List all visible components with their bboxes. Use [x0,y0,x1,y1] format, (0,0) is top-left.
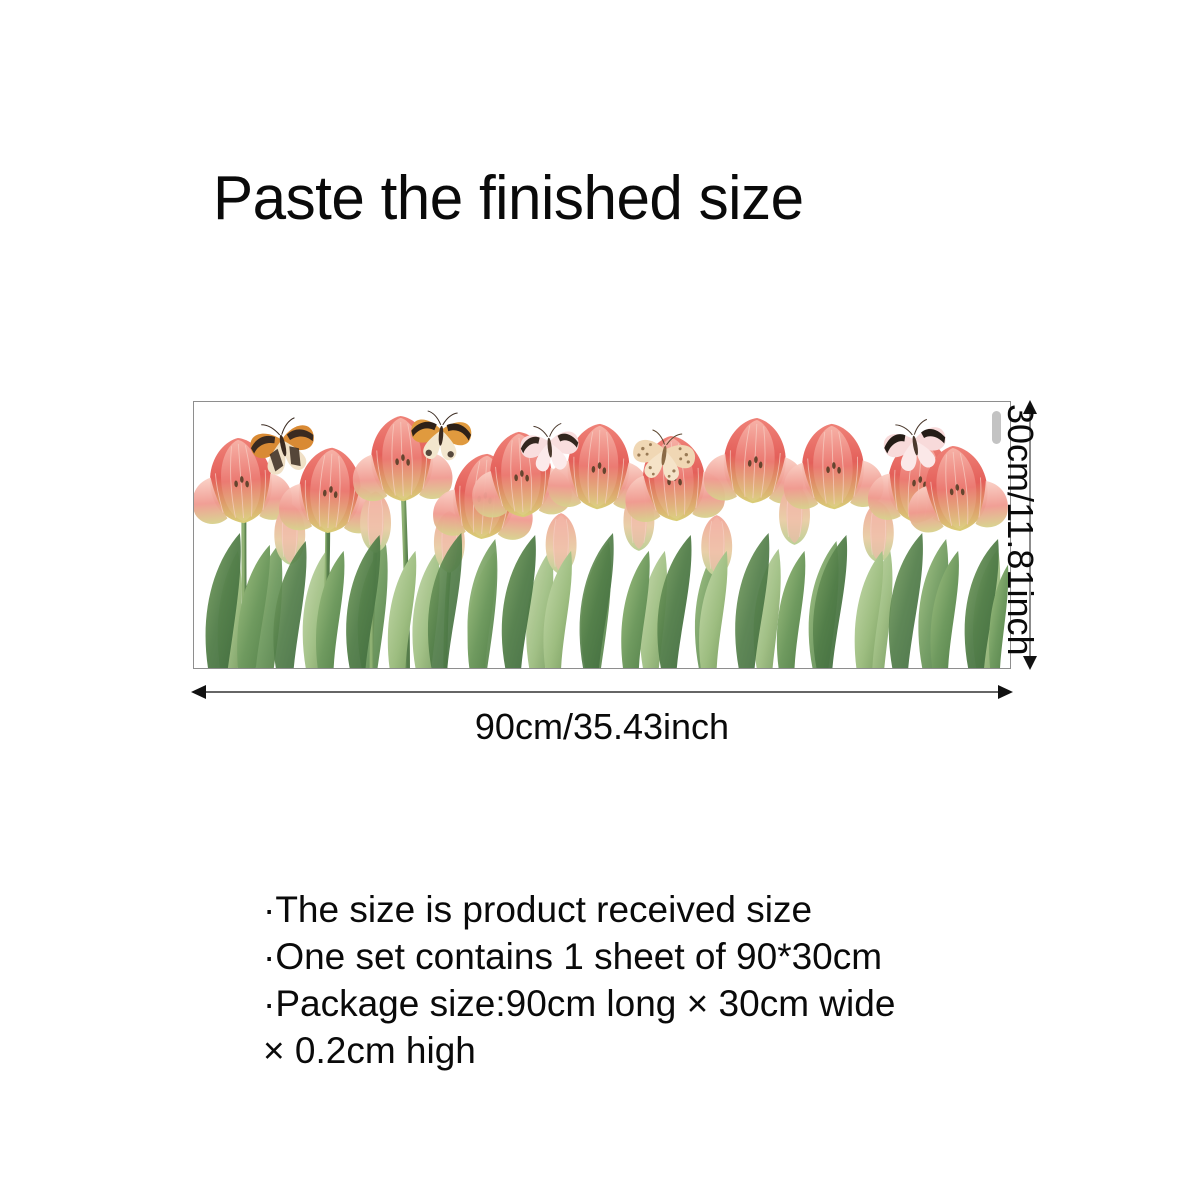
note-line-1: ·The size is product received size [263,886,1023,933]
page-title: Paste the finished size [213,168,804,230]
width-dimension-arrow [188,678,1016,706]
sticker-preview-panel [193,401,1011,669]
note-line-3: ·Package size:90cm long × 30cm wide [263,980,1023,1027]
note-line-4: × 0.2cm high [263,1027,1023,1074]
height-dimension-label: 30cm/11.81inch [1000,404,1040,672]
note-line-2: ·One set contains 1 sheet of 90*30cm [263,933,1023,980]
product-notes: ·The size is product received size ·One … [263,886,1023,1074]
product-size-infographic: Paste the finished size [0,0,1200,1200]
tulip-artwork [194,402,1010,668]
width-dimension-label: 90cm/35.43inch [193,707,1011,747]
